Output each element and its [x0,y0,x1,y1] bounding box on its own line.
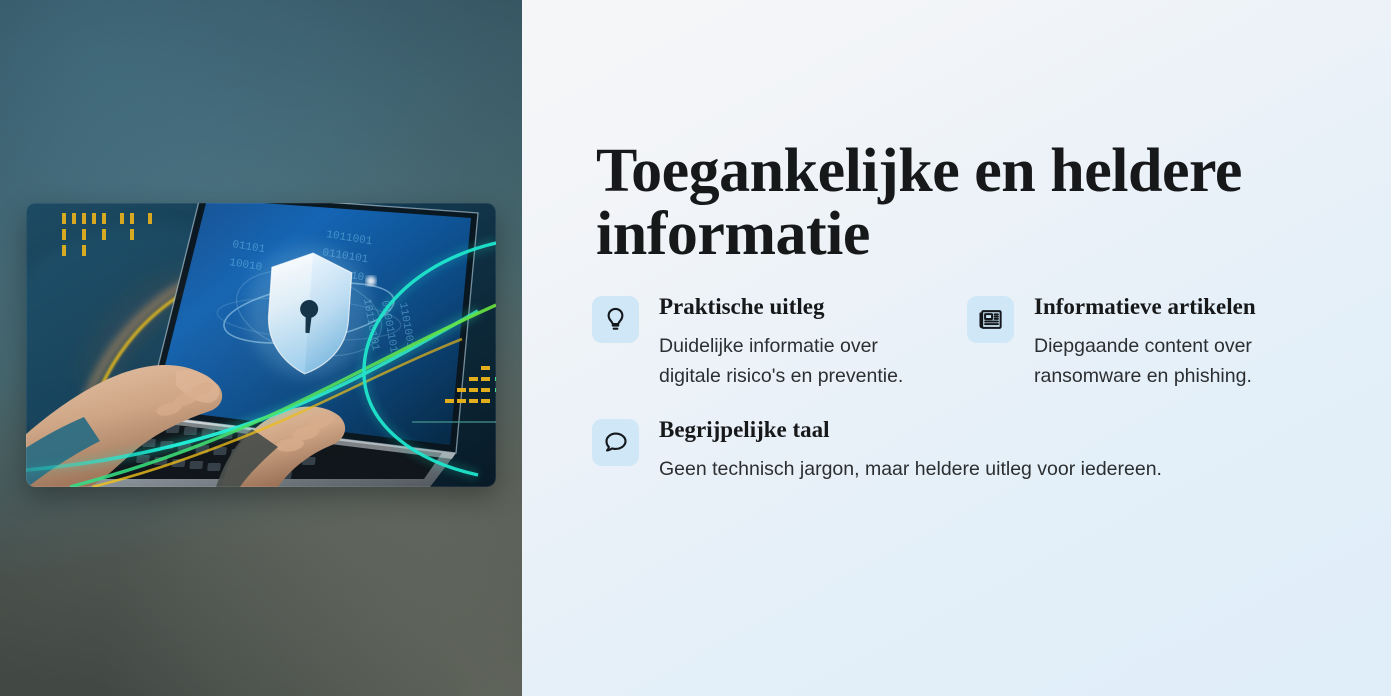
slide-root: 1011001 0110101 1001110 10110101 0100110… [0,0,1391,696]
feature-list: Praktische uitleg Duidelijke informatie … [592,290,1332,484]
newspaper-icon [967,296,1014,343]
feature-body: Informatieve artikelen Diepgaande conten… [1034,290,1299,391]
feature-description: Diepgaande content over ransomware en ph… [1034,331,1299,391]
feature-row-top: Praktische uitleg Duidelijke informatie … [592,290,1332,391]
feature-item-informatieve-artikelen: Informatieve artikelen Diepgaande conten… [967,290,1327,391]
left-visual-panel: 1011001 0110101 1001110 10110101 0100110… [0,0,522,696]
feature-body: Begrijpelijke taal Geen technisch jargon… [659,413,1162,484]
page-title: Toegankelijke en heldere informatie [596,140,1276,266]
right-content-panel: Toegankelijke en heldere informatie Prak… [522,0,1391,696]
lightbulb-icon [592,296,639,343]
feature-item-begrijpelijke-taal: Begrijpelijke taal Geen technisch jargon… [592,413,1332,484]
speech-bubble-icon [592,419,639,466]
lightbulb-glyph [602,306,629,333]
feature-title: Begrijpelijke taal [659,415,1162,445]
cybersecurity-laptop-photo: 1011001 0110101 1001110 10110101 0100110… [26,203,496,487]
feature-item-praktische-uitleg: Praktische uitleg Duidelijke informatie … [592,290,967,391]
feature-body: Praktische uitleg Duidelijke informatie … [659,290,924,391]
laptop-illustration: 1011001 0110101 1001110 10110101 0100110… [26,203,496,487]
feature-title: Informatieve artikelen [1034,292,1299,322]
newspaper-glyph [977,306,1004,333]
speech-bubble-glyph [602,429,629,456]
feature-title: Praktische uitleg [659,292,924,322]
feature-description: Duidelijke informatie over digitale risi… [659,331,924,391]
feature-description: Geen technisch jargon, maar heldere uitl… [659,454,1162,484]
